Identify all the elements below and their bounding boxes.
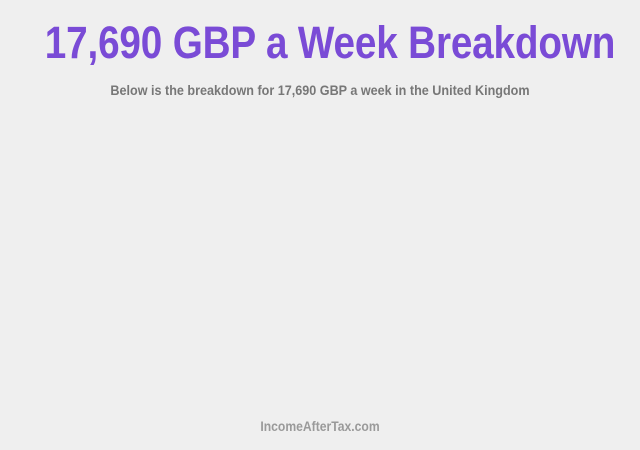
chart-area bbox=[0, 98, 640, 419]
site-watermark: IncomeAfterTax.com bbox=[32, 419, 608, 435]
page-title: 17,690 GBP a Week Breakdown bbox=[45, 18, 595, 68]
page-header: 17,690 GBP a Week Breakdown Below is the… bbox=[0, 0, 640, 98]
page-subtitle: Below is the breakdown for 17,690 GBP a … bbox=[32, 68, 608, 98]
breakdown-page: 17,690 GBP a Week Breakdown Below is the… bbox=[0, 0, 640, 450]
chart-canvas-empty bbox=[0, 98, 640, 419]
page-footer: IncomeAfterTax.com bbox=[0, 419, 640, 450]
